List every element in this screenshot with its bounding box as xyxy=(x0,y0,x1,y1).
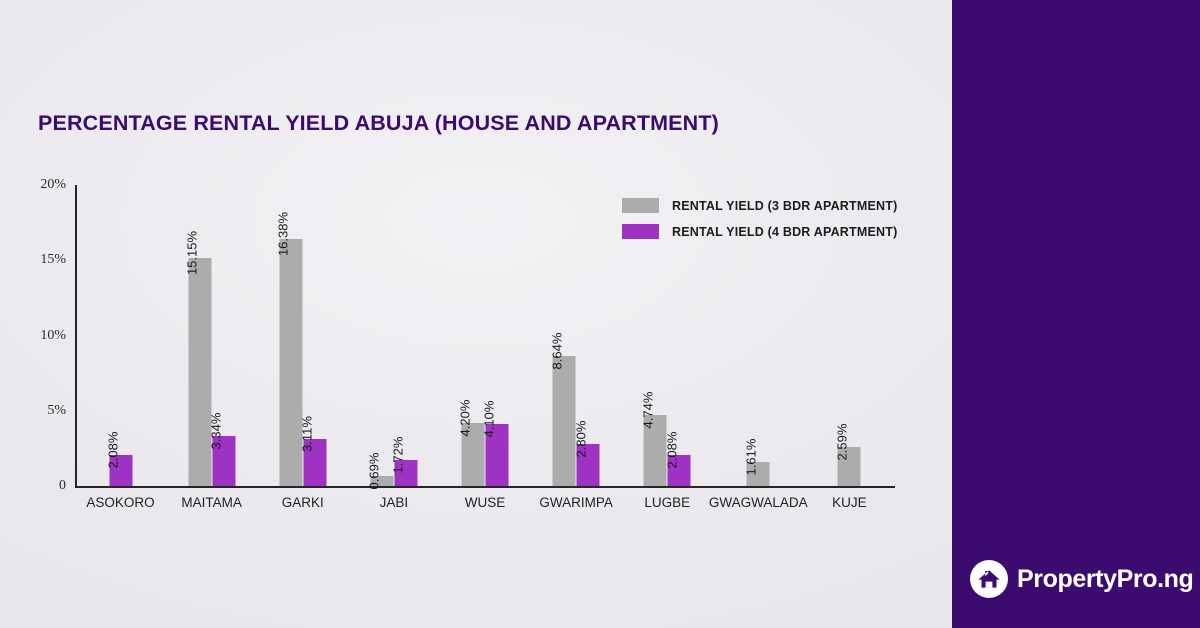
brand-panel: PropertyPro.ng xyxy=(952,0,1200,628)
bar-value-label: 2.80% xyxy=(573,420,588,457)
bar-rect xyxy=(188,258,211,486)
x-axis-line xyxy=(75,486,895,488)
bar-group: 2.08%ASOKORO xyxy=(75,185,166,486)
bar-rect xyxy=(553,356,576,486)
brand-logo: PropertyPro.ng xyxy=(970,560,1193,598)
bar-value-label: 2.08% xyxy=(106,431,121,468)
chart-title: PERCENTAGE RENTAL YIELD ABUJA (HOUSE AND… xyxy=(38,111,719,136)
chart-legend: RENTAL YIELD (3 BDR APARTMENT) RENTAL YI… xyxy=(622,198,897,250)
bar[interactable]: 2.59% xyxy=(838,447,861,486)
bar[interactable]: 3.11% xyxy=(303,439,326,486)
y-axis-tick: 10% xyxy=(40,328,66,344)
bar-value-label: 8.64% xyxy=(549,333,564,370)
bar[interactable]: 1.72% xyxy=(394,460,417,486)
bar[interactable]: 1.61% xyxy=(747,462,770,486)
x-axis-category-label: ASOKORO xyxy=(86,495,154,510)
x-axis-category-label: JABI xyxy=(380,495,409,510)
bar-value-label: 4.74% xyxy=(640,391,655,428)
bar[interactable]: 0.69% xyxy=(370,476,393,486)
y-axis-tick: 20% xyxy=(40,177,66,193)
legend-label-4bdr: RENTAL YIELD (4 BDR APARTMENT) xyxy=(672,225,897,239)
x-axis-category-label: WUSE xyxy=(465,495,506,510)
bar[interactable]: 2.08% xyxy=(668,455,691,486)
bar-value-label: 4.20% xyxy=(458,399,473,436)
bar-group: 16.38%3.11%GARKI xyxy=(257,185,348,486)
bar-value-label: 1.72% xyxy=(391,437,406,474)
bar-value-label: 2.59% xyxy=(834,424,849,461)
slide-canvas: PropertyPro.ng PERCENTAGE RENTAL YIELD A… xyxy=(0,0,1200,628)
bar-value-label: 3.11% xyxy=(300,416,315,452)
house-in-circle-icon xyxy=(970,560,1008,598)
bar[interactable]: 4.10% xyxy=(485,424,508,486)
bar-value-label: 1.61% xyxy=(743,438,758,475)
x-axis-category-label: MAITAMA xyxy=(181,495,242,510)
bar-value-label: 16.38% xyxy=(276,212,291,256)
legend-label-3bdr: RENTAL YIELD (3 BDR APARTMENT) xyxy=(672,199,897,213)
x-axis-category-label: GWAGWALADA xyxy=(709,495,808,510)
legend-entry: RENTAL YIELD (4 BDR APARTMENT) xyxy=(622,224,897,239)
bar-value-label: 3.34% xyxy=(209,412,224,449)
bar-value-label: 0.69% xyxy=(367,452,382,489)
x-axis-category-label: LUGBE xyxy=(644,495,690,510)
bar[interactable]: 2.08% xyxy=(109,455,132,486)
bar[interactable]: 4.74% xyxy=(644,415,667,486)
legend-entry: RENTAL YIELD (3 BDR APARTMENT) xyxy=(622,198,897,213)
bar[interactable]: 2.80% xyxy=(577,444,600,486)
bar[interactable]: 3.34% xyxy=(212,436,235,486)
bar-group: 15.15%3.34%MAITAMA xyxy=(166,185,257,486)
bar-group: 0.69%1.72%JABI xyxy=(348,185,439,486)
legend-swatch-4bdr xyxy=(622,224,659,239)
legend-swatch-3bdr xyxy=(622,198,659,213)
x-axis-category-label: KUJE xyxy=(832,495,867,510)
x-axis-category-label: GWARIMPA xyxy=(539,495,613,510)
y-axis-tick: 5% xyxy=(47,403,66,419)
x-axis-category-label: GARKI xyxy=(282,495,324,510)
y-axis-tick: 15% xyxy=(40,252,66,268)
y-axis-tick: 0 xyxy=(59,478,66,494)
brand-name: PropertyPro.ng xyxy=(1017,565,1193,594)
bar-value-label: 15.15% xyxy=(185,231,200,275)
bar[interactable]: 15.15% xyxy=(188,258,211,486)
bar-value-label: 2.08% xyxy=(664,431,679,468)
bar[interactable]: 8.64% xyxy=(553,356,576,486)
bar-group: 4.20%4.10%WUSE xyxy=(439,185,530,486)
bar-group: 8.64%2.80%GWARIMPA xyxy=(531,185,622,486)
bar-value-label: 4.10% xyxy=(482,401,497,438)
